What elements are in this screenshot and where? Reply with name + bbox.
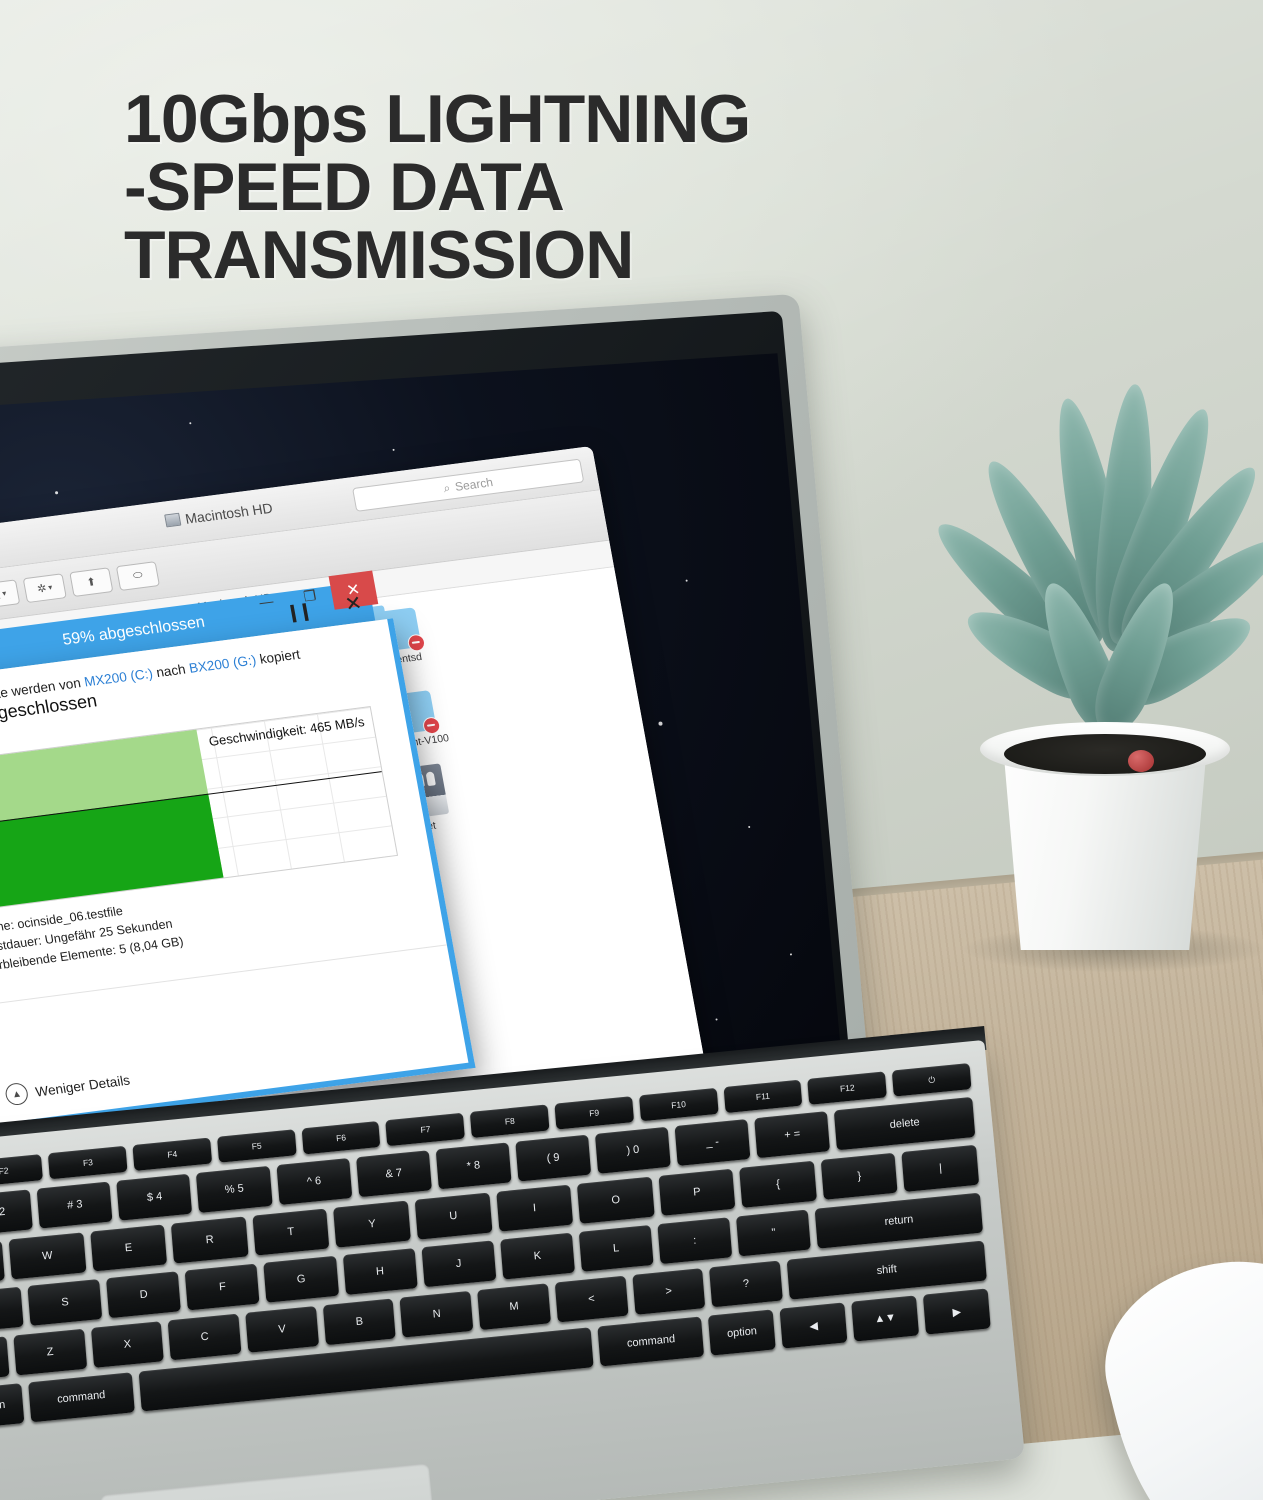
key[interactable]: H bbox=[342, 1248, 417, 1295]
key[interactable]: ( 9 bbox=[515, 1135, 591, 1182]
key[interactable]: T bbox=[252, 1208, 329, 1255]
key[interactable]: F11 bbox=[723, 1080, 802, 1114]
key[interactable]: ) 0 bbox=[595, 1127, 671, 1174]
key[interactable]: P bbox=[658, 1169, 735, 1216]
key[interactable]: F3 bbox=[48, 1146, 127, 1180]
arrange-button[interactable]: ▦ ▾ bbox=[0, 579, 20, 609]
dialog-body: 11 Elemente werden von MX200 (C:) nach B… bbox=[0, 618, 475, 1131]
key[interactable]: { bbox=[739, 1161, 816, 1208]
key[interactable]: Y bbox=[333, 1201, 410, 1248]
key[interactable]: F6 bbox=[301, 1121, 380, 1155]
transfer-speed-graph: Geschwindigkeit: 465 MB/s bbox=[0, 706, 398, 911]
key[interactable]: B bbox=[323, 1298, 397, 1345]
key[interactable]: L bbox=[579, 1225, 654, 1272]
finder-item-spacer bbox=[495, 738, 650, 823]
finder-title-text: Macintosh HD bbox=[184, 500, 274, 527]
headline-line-2: -SPEED DATA bbox=[124, 156, 1024, 220]
pause-button[interactable]: ❙❙ bbox=[284, 601, 312, 624]
key[interactable]: # 3 bbox=[37, 1182, 113, 1229]
option-key-left[interactable]: option bbox=[0, 1383, 24, 1429]
speed-label: Geschwindigkeit: 465 MB/s bbox=[208, 714, 366, 749]
arrow-updown-key[interactable]: ▲▼ bbox=[851, 1295, 919, 1341]
key[interactable]: ^ 6 bbox=[276, 1158, 352, 1205]
key[interactable]: : bbox=[657, 1217, 732, 1264]
star bbox=[790, 953, 792, 955]
minimize-button[interactable]: — bbox=[241, 582, 291, 621]
key[interactable]: F5 bbox=[217, 1129, 296, 1163]
key[interactable]: F10 bbox=[639, 1088, 718, 1122]
share-button[interactable]: ⬆ bbox=[69, 567, 113, 597]
key[interactable]: F2 bbox=[0, 1154, 43, 1188]
windows-copy-dialog[interactable]: 59% abgeschlossen — ❐ ✕ 11 Elemente werd… bbox=[0, 620, 463, 1125]
key[interactable]: " bbox=[736, 1210, 811, 1257]
chevron-up-icon: ▲ bbox=[4, 1082, 30, 1107]
search-placeholder: Search bbox=[454, 475, 494, 494]
key[interactable]: C bbox=[168, 1314, 242, 1361]
option-key-right[interactable]: option bbox=[708, 1309, 776, 1355]
photo-scene: 10Gbps LIGHTNING -SPEED DATA TRANSMISSIO… bbox=[0, 0, 1263, 1500]
search-icon: ⌕ bbox=[442, 480, 451, 496]
key[interactable]: F bbox=[185, 1264, 260, 1311]
key[interactable]: F7 bbox=[386, 1113, 465, 1147]
star bbox=[189, 422, 191, 424]
command-key-right[interactable]: command bbox=[598, 1316, 705, 1366]
return-key[interactable]: return bbox=[815, 1193, 983, 1249]
key[interactable]: N bbox=[400, 1291, 474, 1338]
key[interactable]: F4 bbox=[133, 1138, 212, 1172]
key[interactable]: $ 4 bbox=[117, 1174, 193, 1221]
laptop-bezel: Macintosh HD ⠿ ☰ ▥ ▣ ▦ ▾ ✲ ▾ bbox=[0, 311, 855, 1180]
star bbox=[55, 491, 58, 494]
laptop-screen: Macintosh HD ⠿ ☰ ▥ ▣ ▦ ▾ ✲ ▾ bbox=[0, 353, 846, 1170]
key[interactable]: F9 bbox=[554, 1096, 633, 1130]
key[interactable]: M bbox=[477, 1283, 551, 1330]
less-details-label: Weniger Details bbox=[34, 1072, 131, 1099]
key[interactable]: * 8 bbox=[435, 1142, 511, 1189]
new-tab-button[interactable]: + bbox=[588, 455, 614, 480]
key[interactable]: F8 bbox=[470, 1104, 549, 1138]
star bbox=[658, 722, 662, 726]
hard-drive-icon bbox=[164, 513, 181, 528]
star bbox=[392, 449, 394, 451]
arrow-right-key[interactable]: ▶ bbox=[923, 1288, 991, 1334]
page-title: 10Gbps LIGHTNING -SPEED DATA TRANSMISSIO… bbox=[124, 88, 1024, 292]
finder-item-spacer bbox=[481, 665, 634, 739]
key[interactable]: X bbox=[91, 1321, 165, 1368]
key[interactable]: & 7 bbox=[356, 1150, 432, 1197]
key[interactable]: _ - bbox=[675, 1119, 751, 1166]
delete-key[interactable]: delete bbox=[834, 1097, 975, 1150]
key[interactable]: V bbox=[245, 1306, 319, 1353]
key[interactable]: + = bbox=[754, 1111, 830, 1158]
key[interactable]: Q bbox=[0, 1240, 5, 1287]
macbook-laptop: Macintosh HD ⠿ ☰ ▥ ▣ ▦ ▾ ✲ ▾ bbox=[0, 360, 980, 1500]
action-gear-button[interactable]: ✲ ▾ bbox=[23, 573, 67, 603]
key[interactable]: E bbox=[90, 1224, 167, 1271]
tag-button[interactable]: ⬭ bbox=[116, 561, 160, 591]
key[interactable]: > bbox=[632, 1268, 706, 1315]
key[interactable]: G bbox=[264, 1256, 339, 1303]
key[interactable]: ? bbox=[709, 1261, 783, 1308]
headline-line-3: TRANSMISSION bbox=[124, 224, 1024, 288]
key[interactable]: I bbox=[496, 1185, 573, 1232]
star bbox=[715, 1018, 717, 1020]
headline-line-1: 10Gbps LIGHTNING bbox=[124, 88, 1024, 152]
key[interactable]: A bbox=[0, 1287, 24, 1334]
soil bbox=[1004, 734, 1206, 774]
key[interactable]: R bbox=[171, 1216, 248, 1263]
star bbox=[686, 580, 688, 582]
key[interactable]: K bbox=[500, 1233, 575, 1280]
key[interactable]: O bbox=[577, 1177, 654, 1224]
finder-item-spacer bbox=[466, 582, 620, 666]
less-details-toggle[interactable]: ▲ Weniger Details bbox=[4, 1069, 132, 1107]
key[interactable]: W bbox=[9, 1232, 86, 1279]
arrow-left-key[interactable]: ◀ bbox=[780, 1302, 848, 1348]
potted-plant bbox=[950, 378, 1263, 1078]
no-entry-icon bbox=[407, 633, 427, 652]
key[interactable]: % 5 bbox=[196, 1166, 272, 1213]
command-key-left[interactable]: command bbox=[28, 1372, 135, 1422]
key[interactable]: } bbox=[821, 1153, 898, 1200]
key[interactable]: @ 2 bbox=[0, 1189, 33, 1236]
transfer-details: Name: ocinside_06.testfile Restdauer: Un… bbox=[0, 895, 185, 976]
key[interactable]: U bbox=[415, 1193, 492, 1240]
key[interactable]: J bbox=[421, 1240, 496, 1287]
key[interactable]: | bbox=[902, 1145, 979, 1192]
key[interactable]: < bbox=[555, 1276, 629, 1323]
key[interactable]: Z bbox=[13, 1329, 87, 1376]
key[interactable]: D bbox=[106, 1271, 181, 1318]
key[interactable]: F12 bbox=[808, 1071, 887, 1105]
key[interactable]: S bbox=[28, 1279, 103, 1326]
red-berry bbox=[1128, 750, 1154, 772]
star bbox=[748, 826, 750, 828]
